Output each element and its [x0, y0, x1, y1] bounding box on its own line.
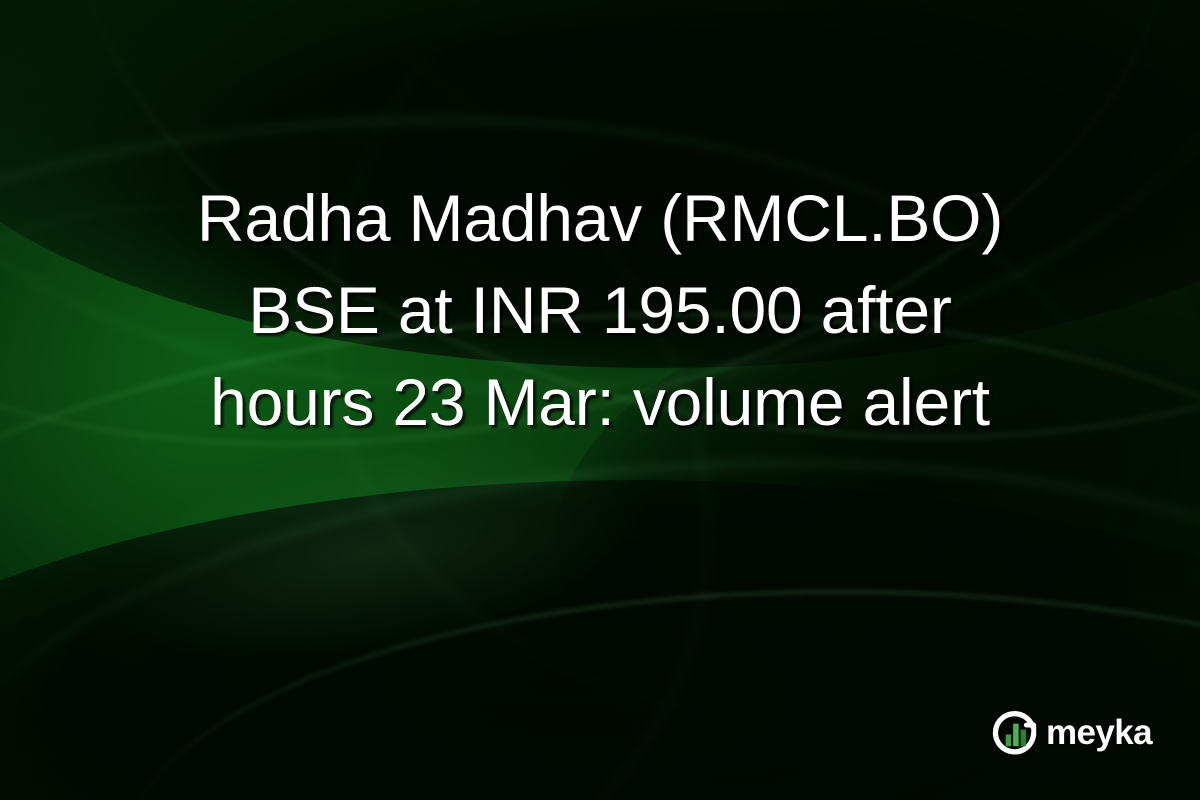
headline-line-3: hours 23 Mar: volume alert: [56, 356, 1144, 448]
share-card: Radha Madhav (RMCL.BO) BSE at INR 195.00…: [0, 0, 1200, 800]
page-title: Radha Madhav (RMCL.BO) BSE at INR 195.00…: [0, 172, 1200, 448]
headline-line-2: BSE at INR 195.00 after: [56, 264, 1144, 356]
circle-bar-chart-icon: [992, 709, 1039, 756]
headline-line-1: Radha Madhav (RMCL.BO): [56, 172, 1144, 264]
meyka-logo[interactable]: meyka: [992, 709, 1152, 756]
logo-wordmark: meyka: [1046, 715, 1152, 750]
